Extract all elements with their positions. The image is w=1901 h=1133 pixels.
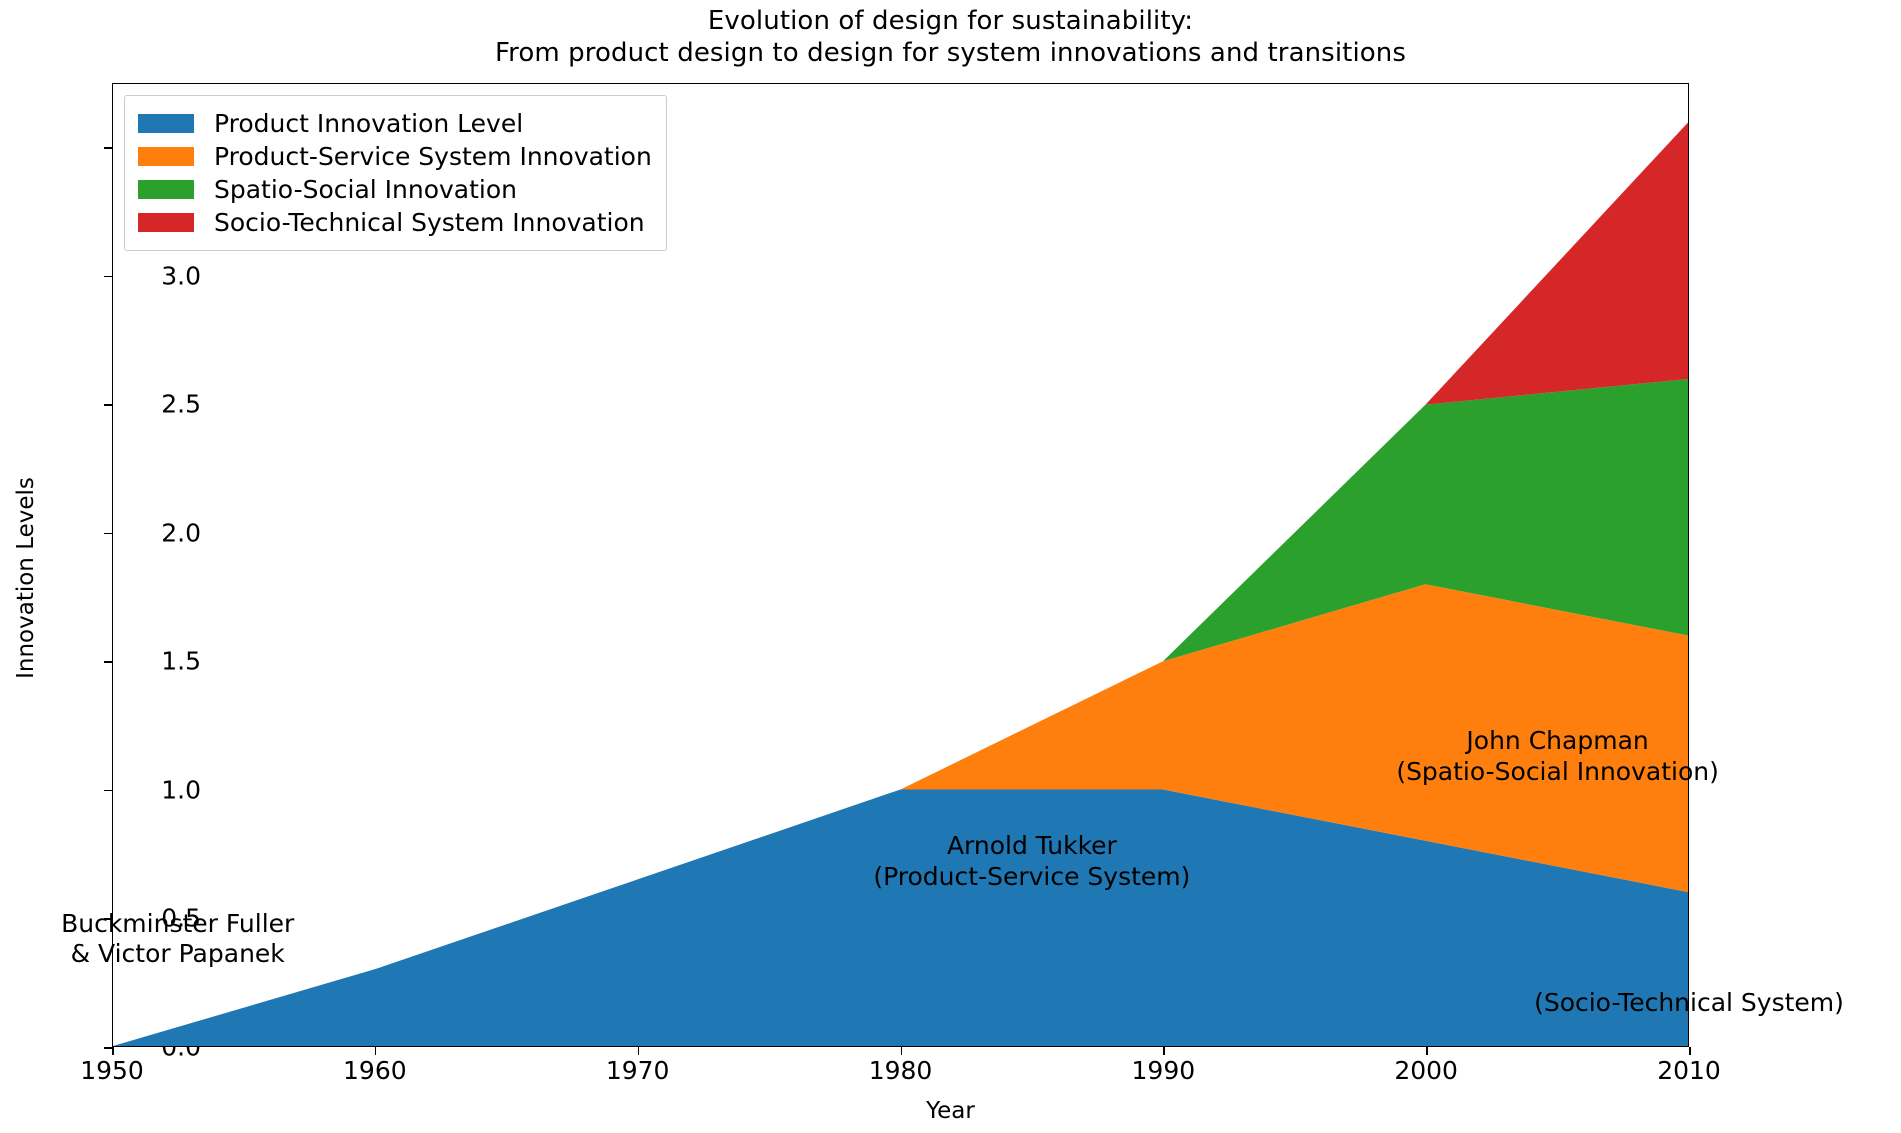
chart-title: Evolution of design for sustainability: … xyxy=(0,6,1901,69)
chart-legend[interactable]: Product Innovation LevelProduct-Service … xyxy=(124,95,667,251)
chart-title-line-2: From product design to design for system… xyxy=(0,38,1901,70)
x-tick-label: 2010 xyxy=(1657,1056,1721,1085)
legend-item[interactable]: Spatio-Social Innovation xyxy=(138,173,652,206)
legend-item[interactable]: Product Innovation Level xyxy=(138,107,652,140)
legend-item-label: Product Innovation Level xyxy=(214,111,523,136)
x-tick-mark xyxy=(1689,1047,1691,1055)
y-tick-mark xyxy=(104,276,112,278)
x-tick-mark xyxy=(375,1047,377,1055)
x-tick-label: 1980 xyxy=(869,1056,933,1085)
x-tick-mark xyxy=(638,1047,640,1055)
x-tick-mark xyxy=(901,1047,903,1055)
legend-color-swatch xyxy=(138,213,194,232)
legend-color-swatch xyxy=(138,147,194,166)
legend-item-label: Spatio-Social Innovation xyxy=(214,177,517,202)
y-tick-mark xyxy=(104,918,112,920)
x-tick-label: 1950 xyxy=(80,1056,144,1085)
chart-title-line-1: Evolution of design for sustainability: xyxy=(0,6,1901,38)
legend-color-swatch xyxy=(138,180,194,199)
y-tick-mark xyxy=(104,661,112,663)
y-tick-mark xyxy=(104,533,112,535)
x-tick-label: 1990 xyxy=(1132,1056,1196,1085)
x-tick-mark xyxy=(1426,1047,1428,1055)
x-tick-mark xyxy=(112,1047,114,1055)
x-tick-mark xyxy=(1163,1047,1165,1055)
y-axis-label: Innovation Levels xyxy=(13,398,39,758)
x-tick-label: 1960 xyxy=(343,1056,407,1085)
y-tick-mark xyxy=(104,147,112,149)
legend-color-swatch xyxy=(138,114,194,133)
legend-item[interactable]: Socio-Technical System Innovation xyxy=(138,206,652,239)
y-tick-mark xyxy=(104,790,112,792)
y-tick-mark xyxy=(104,404,112,406)
x-axis-label: Year xyxy=(0,1098,1901,1124)
legend-item-label: Socio-Technical System Innovation xyxy=(214,210,645,235)
legend-item-label: Product-Service System Innovation xyxy=(214,144,652,169)
x-tick-label: 1970 xyxy=(606,1056,670,1085)
y-tick-mark xyxy=(104,1047,112,1049)
x-tick-label: 2000 xyxy=(1394,1056,1458,1085)
figure-canvas: Evolution of design for sustainability: … xyxy=(0,0,1901,1133)
legend-item[interactable]: Product-Service System Innovation xyxy=(138,140,652,173)
